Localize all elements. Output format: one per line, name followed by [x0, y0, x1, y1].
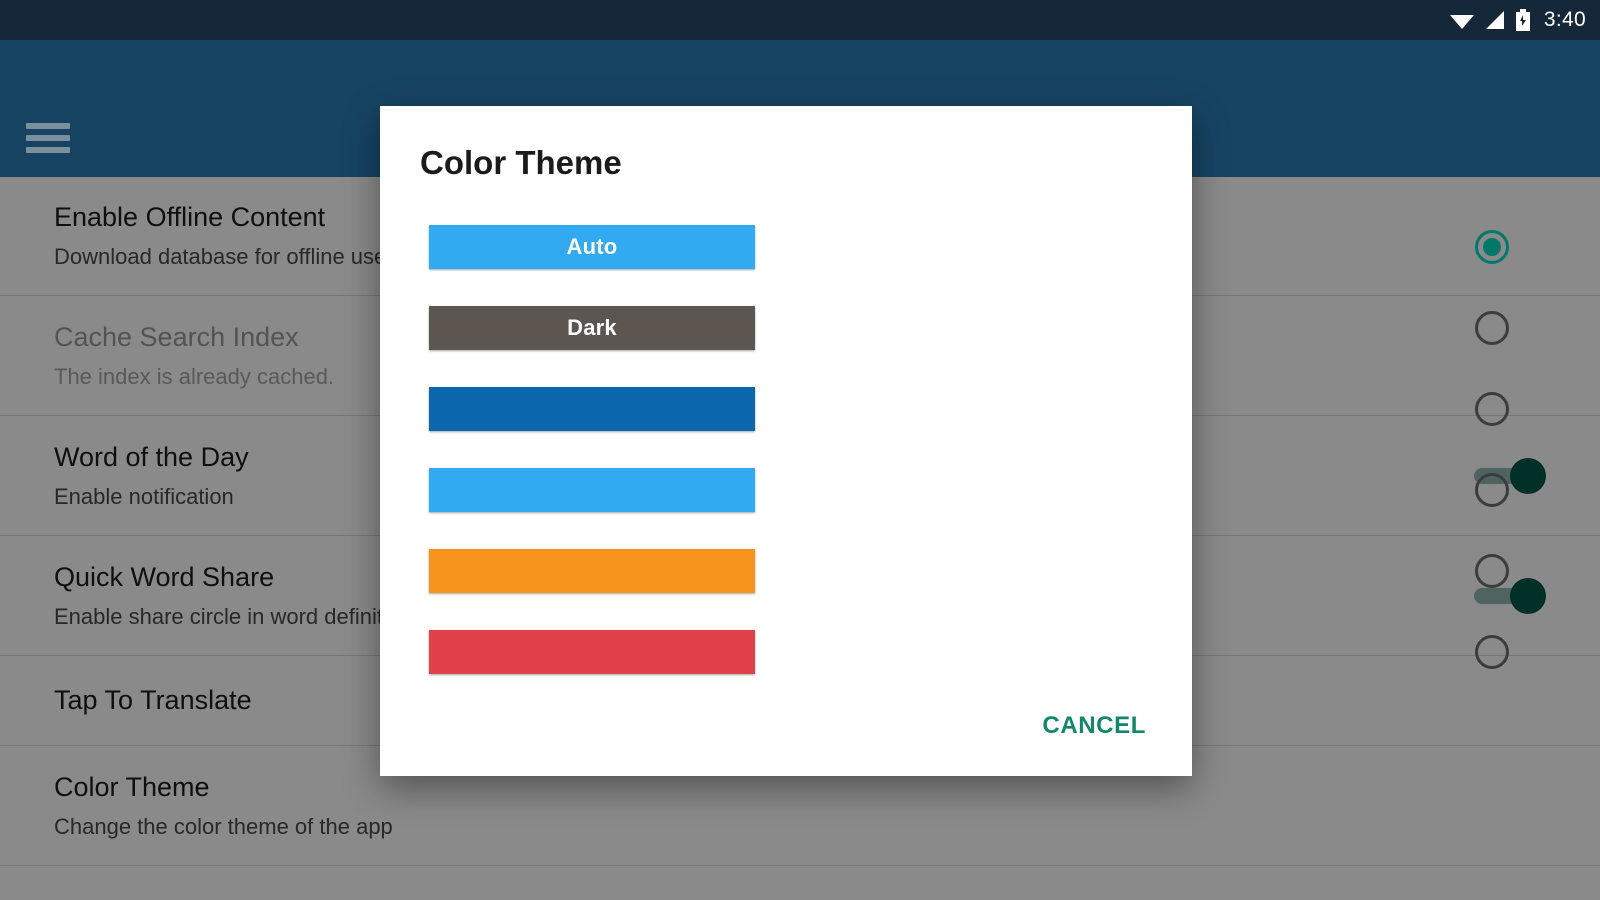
theme-option-row[interactable]: Dark [380, 287, 1192, 368]
theme-radio[interactable] [1475, 554, 1509, 588]
theme-swatch-label: Dark [567, 315, 617, 341]
theme-radio[interactable] [1475, 635, 1509, 669]
theme-option-list: AutoDark [380, 206, 1192, 692]
theme-option-row[interactable] [380, 611, 1192, 692]
dialog-title: Color Theme [420, 144, 622, 182]
cancel-button[interactable]: CANCEL [1038, 706, 1150, 746]
menu-bar-1 [26, 123, 70, 129]
theme-swatch-label: Auto [567, 234, 618, 260]
color-theme-dialog: Color Theme AutoDark CANCEL [380, 106, 1192, 776]
theme-radio[interactable] [1475, 311, 1509, 345]
status-bar-clock: 3:40 [1544, 8, 1586, 32]
theme-option-row[interactable] [380, 449, 1192, 530]
theme-option-row[interactable]: Auto [380, 206, 1192, 287]
status-bar: 3:40 [0, 0, 1600, 40]
status-bar-icons: 3:40 [1449, 8, 1586, 32]
battery-icon [1515, 9, 1531, 31]
theme-color-swatch[interactable] [429, 468, 755, 512]
android-settings-screen: 3:40 Settings Enable Offline ContentDown… [0, 0, 1600, 900]
theme-color-swatch[interactable]: Dark [429, 306, 755, 350]
theme-color-swatch[interactable] [429, 630, 755, 674]
theme-radio[interactable] [1475, 392, 1509, 426]
theme-color-swatch[interactable]: Auto [429, 225, 755, 269]
theme-option-row[interactable] [380, 368, 1192, 449]
wifi-icon [1449, 10, 1475, 30]
theme-color-swatch[interactable] [429, 549, 755, 593]
theme-radio-selected[interactable] [1475, 230, 1509, 264]
theme-option-row[interactable] [380, 530, 1192, 611]
theme-color-swatch[interactable] [429, 387, 755, 431]
theme-radio[interactable] [1475, 473, 1509, 507]
cellular-signal-icon [1484, 10, 1506, 30]
dialog-actions: CANCEL [1038, 706, 1150, 746]
